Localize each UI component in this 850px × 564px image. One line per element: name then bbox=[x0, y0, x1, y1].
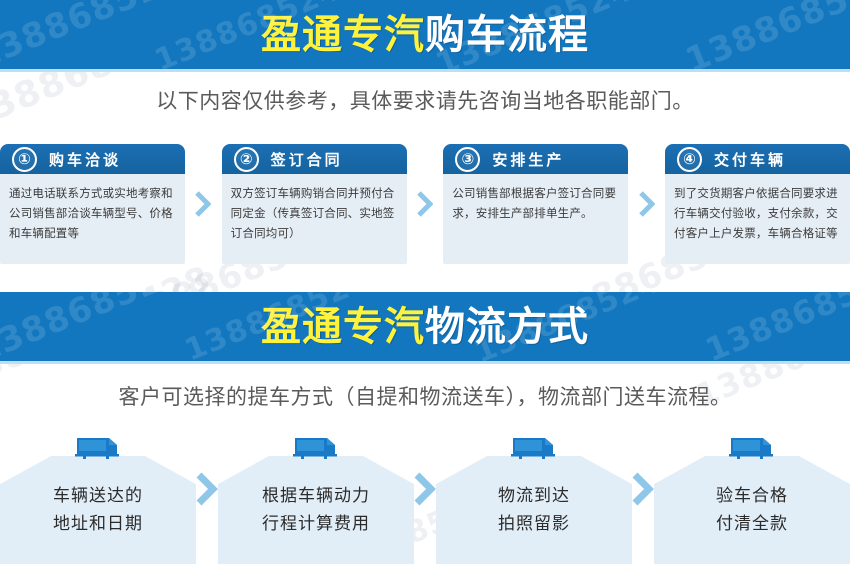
step-header-4: ④ 交付车辆 bbox=[665, 144, 850, 174]
logistics-card-line1: 验车合格 bbox=[654, 482, 850, 510]
logistics-card-1[interactable]: 车辆送达的 地址和日期 bbox=[0, 436, 196, 564]
chevron-right-icon bbox=[639, 191, 655, 217]
banner-title-highlight: 盈通专汽 bbox=[261, 12, 425, 58]
step-card-2[interactable]: ② 签订合同 双方签订车辆购销合同并预付合同定金（传真签订合同、实地签订合同均可… bbox=[222, 144, 407, 264]
step-title: 安排生产 bbox=[492, 149, 564, 170]
chevron-right-icon bbox=[632, 472, 654, 506]
step-card-4[interactable]: ④ 交付车辆 到了交货期客户依据合同要求进行车辆交付验收，支付余款，交付客户上户… bbox=[665, 144, 850, 264]
step-arrow-3 bbox=[628, 144, 665, 264]
logistics-card-text: 验车合格 付清全款 bbox=[654, 482, 850, 538]
watermark-text: 13886852428 bbox=[700, 292, 850, 361]
page-root: 13886852428 13886852428 13886852428 1388… bbox=[0, 0, 850, 564]
step-card-1[interactable]: ① 购车洽谈 通过电话联系方式或实地考察和公司销售部洽谈车辆型号、价格和车辆配置… bbox=[0, 144, 185, 264]
chevron-right-icon bbox=[195, 191, 211, 217]
logistics-card-4[interactable]: 验车合格 付清全款 bbox=[654, 436, 850, 564]
logistics-card-text: 车辆送达的 地址和日期 bbox=[0, 482, 196, 538]
banner-title-rest: 物流方式 bbox=[425, 304, 589, 350]
banner-title: 盈通专汽购车流程 bbox=[261, 15, 589, 55]
step-title: 购车洽谈 bbox=[49, 149, 121, 170]
logistics-card-line1: 根据车辆动力 bbox=[218, 482, 414, 510]
logistics-card-text: 物流到达 拍照留影 bbox=[436, 482, 632, 538]
logistics-arrow-3 bbox=[632, 436, 654, 564]
chevron-right-icon bbox=[414, 472, 436, 506]
logistics-steps-row: 车辆送达的 地址和日期 根据车辆动力 bbox=[0, 436, 850, 564]
banner-title-rest: 购车流程 bbox=[425, 12, 589, 58]
step-card-3[interactable]: ③ 安排生产 公司销售部根据客户签订合同要求，安排生产部排单生产。 bbox=[443, 144, 628, 264]
truck-icon bbox=[75, 436, 121, 460]
step-title: 签订合同 bbox=[271, 149, 343, 170]
subtitle-logistics: 客户可选择的提车方式（自提和物流送车），物流部门送车流程。 bbox=[0, 381, 850, 411]
step-body: 双方签订车辆购销合同并预付合同定金（传真签订合同、实地签订合同均可） bbox=[222, 174, 407, 264]
logistics-card-text: 根据车辆动力 行程计算费用 bbox=[218, 482, 414, 538]
truck-icon bbox=[729, 436, 775, 460]
logistics-arrow-2 bbox=[414, 436, 436, 564]
step-number-badge: ③ bbox=[455, 147, 480, 172]
step-body: 通过电话联系方式或实地考察和公司销售部洽谈车辆型号、价格和车辆配置等 bbox=[0, 174, 185, 264]
subtitle-purchase-process: 以下内容仅供参考，具体要求请先咨询当地各职能部门。 bbox=[0, 85, 850, 115]
banner-logistics: 13886852428 13886852428 13886852428 1388… bbox=[0, 292, 850, 364]
watermark-text: 13886852428 bbox=[680, 0, 850, 69]
step-header-3: ③ 安排生产 bbox=[443, 144, 628, 174]
banner-title-highlight: 盈通专汽 bbox=[261, 304, 425, 350]
step-number-badge: ④ bbox=[677, 147, 702, 172]
step-header-1: ① 购车洽谈 bbox=[0, 144, 185, 174]
step-header-2: ② 签订合同 bbox=[222, 144, 407, 174]
step-arrow-2 bbox=[407, 144, 444, 264]
truck-icon bbox=[511, 436, 557, 460]
step-number-badge: ② bbox=[234, 147, 259, 172]
logistics-card-line1: 物流到达 bbox=[436, 482, 632, 510]
logistics-card-line2: 拍照留影 bbox=[436, 510, 632, 538]
step-body: 公司销售部根据客户签订合同要求，安排生产部排单生产。 bbox=[443, 174, 628, 264]
truck-icon bbox=[293, 436, 339, 460]
logistics-card-2[interactable]: 根据车辆动力 行程计算费用 bbox=[218, 436, 414, 564]
chevron-right-icon bbox=[417, 191, 433, 217]
logistics-card-line2: 行程计算费用 bbox=[218, 510, 414, 538]
logistics-arrow-1 bbox=[196, 436, 218, 564]
step-arrow-1 bbox=[185, 144, 222, 264]
logistics-card-line2: 付清全款 bbox=[654, 510, 850, 538]
logistics-card-line1: 车辆送达的 bbox=[0, 482, 196, 510]
banner-title: 盈通专汽物流方式 bbox=[261, 307, 589, 347]
logistics-card-line2: 地址和日期 bbox=[0, 510, 196, 538]
watermark-text: 13886852428 bbox=[0, 0, 236, 69]
watermark-text: 13886852428 bbox=[0, 292, 236, 361]
banner-purchase-process: 13886852428 13886852428 13886852428 1388… bbox=[0, 0, 850, 72]
logistics-card-3[interactable]: 物流到达 拍照留影 bbox=[436, 436, 632, 564]
step-body: 到了交货期客户依据合同要求进行车辆交付验收，支付余款，交付客户上户发票，车辆合格… bbox=[665, 174, 850, 264]
step-title: 交付车辆 bbox=[714, 149, 786, 170]
purchase-steps-row: ① 购车洽谈 通过电话联系方式或实地考察和公司销售部洽谈车辆型号、价格和车辆配置… bbox=[0, 144, 850, 264]
step-number-badge: ① bbox=[12, 147, 37, 172]
chevron-right-icon bbox=[196, 472, 218, 506]
